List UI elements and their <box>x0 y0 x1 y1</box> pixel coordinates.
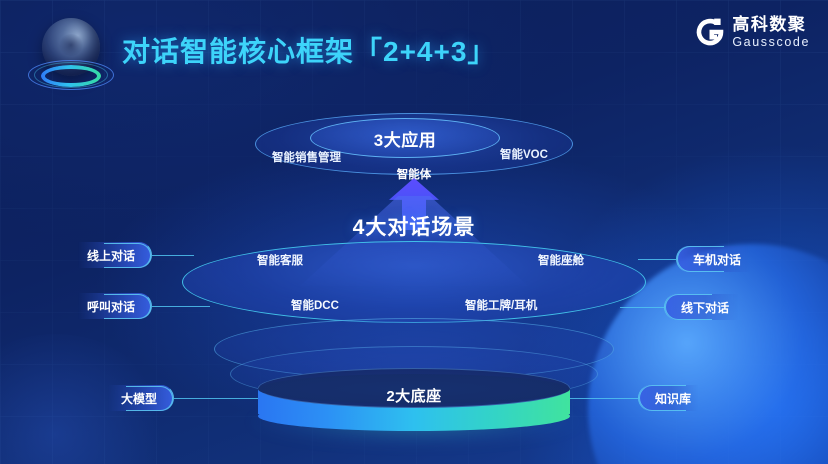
logo-text: 高科数聚 Gausscode <box>732 16 810 49</box>
gausscode-mark-icon <box>695 17 725 47</box>
scenario-label-customer-service: 智能客服 <box>257 252 303 268</box>
brand-logo: 高科数聚 Gausscode <box>695 16 810 49</box>
connector-line-call <box>152 306 210 307</box>
application-label-sales: 智能销售管理 <box>272 149 341 165</box>
logo-en: Gausscode <box>732 36 810 49</box>
scenario-label-cockpit: 智能座舱 <box>538 252 584 268</box>
pill-call-dialogue[interactable]: 呼叫对话 <box>78 293 152 319</box>
scenario-layer-title: 4大对话场景 <box>0 211 828 241</box>
page-title: 对话智能核心框架「2+4+3」 <box>122 30 496 70</box>
orb-gradient-ring <box>41 65 101 87</box>
pill-offline-dialogue[interactable]: 线下对话 <box>664 294 738 320</box>
application-label-voc: 智能VOC <box>500 146 548 162</box>
connector-line-online <box>152 255 194 256</box>
scenario-label-badge-headset: 智能工牌/耳机 <box>465 297 537 313</box>
connector-line-kb <box>570 398 638 399</box>
base-layer-title: 2大底座 <box>258 382 570 408</box>
connector-line-llm <box>174 398 258 399</box>
connector-line-offline <box>620 307 664 308</box>
pill-in-car-dialogue[interactable]: 车机对话 <box>676 246 750 272</box>
pill-knowledge-base[interactable]: 知识库 <box>638 385 698 411</box>
sphere-orb-icon <box>24 16 114 100</box>
slide-canvas: 对话智能核心框架「2+4+3」 高科数聚 Gausscode 3大应用 智能销售… <box>0 0 828 464</box>
logo-cn: 高科数聚 <box>732 16 810 33</box>
pill-large-model[interactable]: 大模型 <box>108 385 174 411</box>
scenario-label-dcc: 智能DCC <box>291 297 339 313</box>
pill-online-dialogue[interactable]: 线上对话 <box>78 242 152 268</box>
connector-line-incar <box>638 259 676 260</box>
